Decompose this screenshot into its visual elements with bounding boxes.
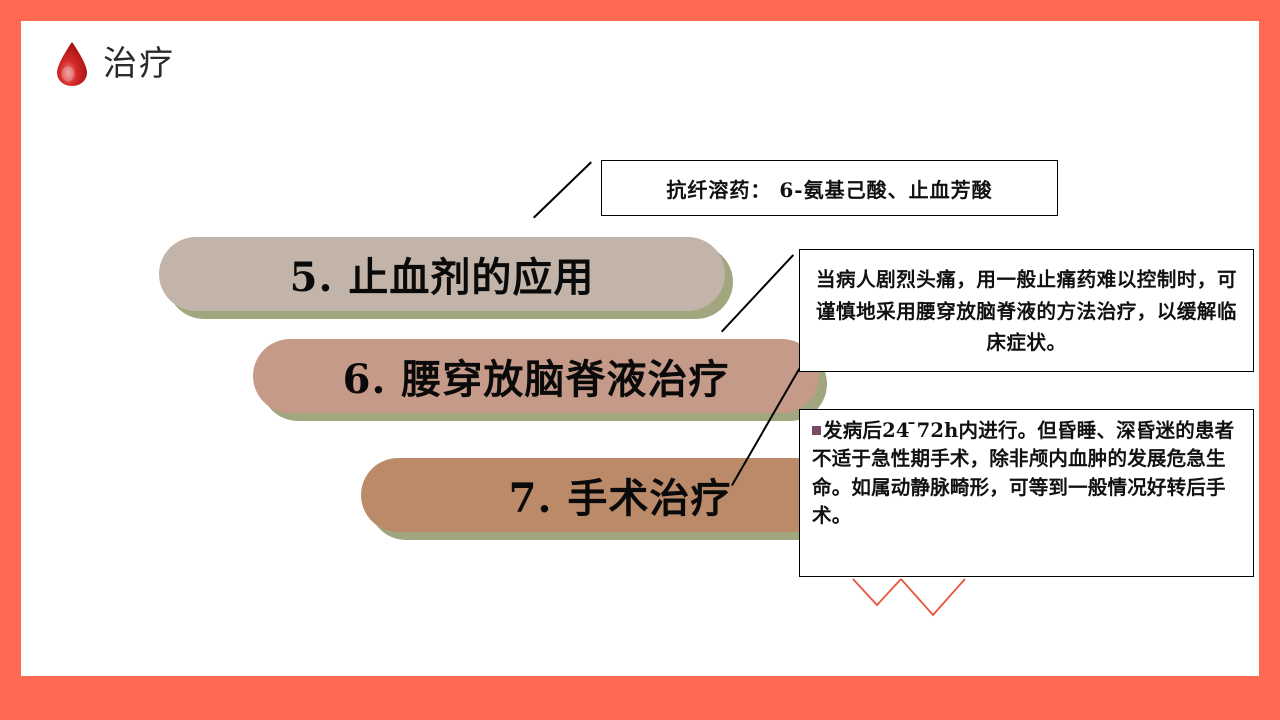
callout-box-3-text: 发病后24 ̄72h内进行。但昏睡、深昏迷的患者不适于急性期手术，除非颅内血肿的… (812, 417, 1243, 531)
slide-root: 治疗 5. 止血剂的应用 6. 腰穿放脑脊液治疗 7. 手术治疗 抗纤溶药： 6… (0, 0, 1280, 720)
callout-box-3: 发病后24 ̄72h内进行。但昏睡、深昏迷的患者不适于急性期手术，除非颅内血肿的… (799, 409, 1254, 577)
slide-header: 治疗 (55, 41, 175, 87)
leader-line-2 (721, 254, 794, 332)
page-title: 治疗 (103, 47, 175, 81)
topic-bar-6[interactable]: 6. 腰穿放脑脊液治疗 (253, 339, 819, 413)
topic-bar-5[interactable]: 5. 止血剂的应用 (159, 237, 725, 311)
topic-bar-5-label: 5. 止血剂的应用 (159, 245, 725, 303)
leader-line-1 (533, 161, 592, 218)
callout-box-2: 当病人剧烈头痛，用一般止痛药难以控制时，可谨慎地采用腰穿放脑脊液的方法治疗，以缓… (799, 249, 1254, 372)
callout-box-1-text: 抗纤溶药： 6-氨基己酸、止血芳酸 (666, 174, 992, 203)
callout-box-2-text: 当病人剧烈头痛，用一般止痛药难以控制时，可谨慎地采用腰穿放脑脊液的方法治疗，以缓… (816, 264, 1237, 359)
blood-drop-icon (55, 41, 89, 87)
callout-box-3-body: 发病后24 ̄72h内进行。但昏睡、深昏迷的患者不适于急性期手术，除非颅内血肿的… (812, 419, 1234, 527)
square-bullet-icon (812, 426, 821, 435)
callout-box-1: 抗纤溶药： 6-氨基己酸、止血芳酸 (601, 160, 1058, 216)
topic-bar-6-label: 6. 腰穿放脑脊液治疗 (253, 347, 819, 405)
slide-canvas: 治疗 5. 止血剂的应用 6. 腰穿放脑脊液治疗 7. 手术治疗 抗纤溶药： 6… (21, 21, 1259, 676)
